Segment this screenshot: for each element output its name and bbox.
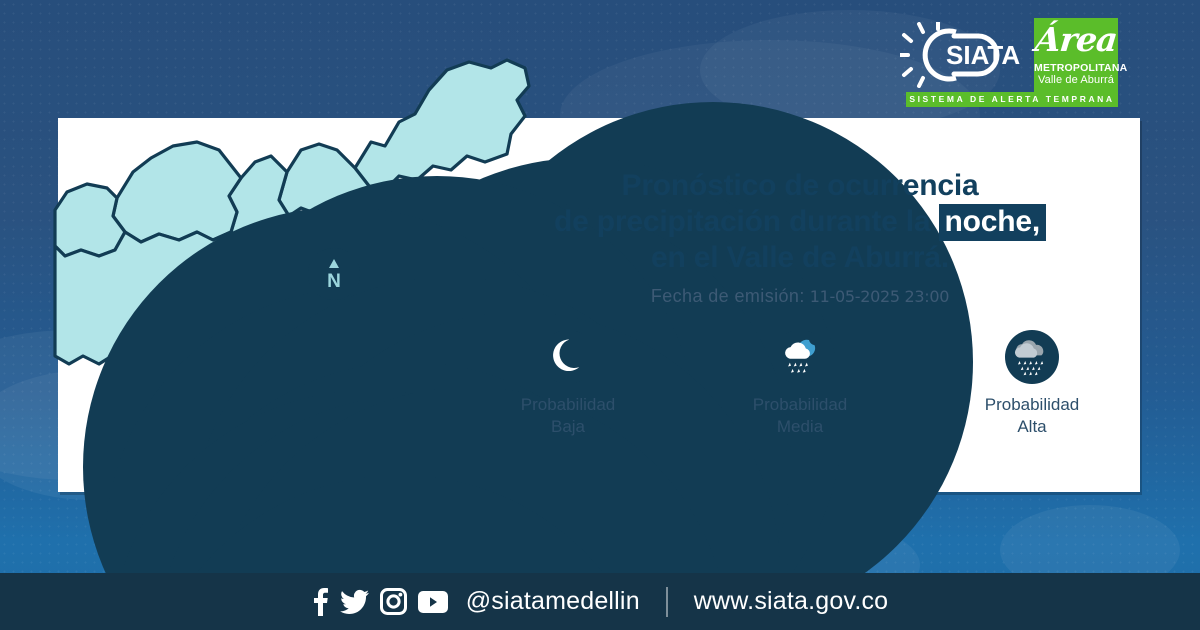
cloud-heavy-rain-icon	[1005, 330, 1059, 384]
valle-de-aburra-map	[55, 50, 575, 570]
legend-alta-line2: Alta	[957, 416, 1107, 438]
compass-north-icon: N	[308, 248, 360, 300]
title-line-1: Pronóstico de ocurrencia	[470, 168, 1130, 204]
instagram-icon[interactable]	[380, 588, 407, 615]
legend-item-media: Probabilidad Media	[725, 330, 875, 438]
map-marker-caldas	[140, 475, 198, 533]
svg-text:N: N	[327, 271, 341, 292]
legend-label-media: Probabilidad Media	[725, 394, 875, 438]
siata-logo: SIATA	[900, 22, 1030, 88]
map-marker-caldas-north	[210, 387, 262, 439]
legend-alta-line1: Probabilidad	[957, 394, 1107, 416]
probability-legend: Probabilidad Baja	[470, 330, 1130, 438]
area-script-text: Área	[1032, 18, 1121, 62]
footer-divider	[666, 587, 668, 617]
legend-baja-line2: Baja	[493, 416, 643, 438]
facebook-icon[interactable]	[312, 588, 329, 616]
area-metropolitana-logo: Área METROPOLITANA Valle de Aburrá	[1034, 18, 1118, 94]
legend-label-alta: Probabilidad Alta	[957, 394, 1107, 438]
footer-bar: @siatamedellin www.siata.gov.co	[0, 573, 1200, 630]
title-line-3: en el Valle de Aburrá.	[470, 240, 1130, 276]
title-line-2-text: de precipitación durante la	[554, 205, 930, 238]
legend-item-alta: Probabilidad Alta	[957, 330, 1107, 438]
moon-cloud-rain-icon	[773, 330, 827, 384]
svg-text:SIATA: SIATA	[946, 40, 1020, 70]
legend-baja-line1: Probabilidad	[493, 394, 643, 416]
map-marker-sabaneta	[155, 395, 211, 451]
website-url[interactable]: www.siata.gov.co	[694, 587, 888, 616]
map-marker-barbosa	[453, 102, 509, 158]
map-marker-envigado	[260, 312, 316, 368]
moon-icon	[541, 330, 595, 384]
twitter-icon[interactable]	[340, 588, 369, 616]
legend-item-baja: Probabilidad Baja	[493, 330, 643, 438]
youtube-icon[interactable]	[418, 591, 448, 613]
social-links	[312, 588, 448, 616]
issue-date: Fecha de emisión: 11-05-2025 23:00	[470, 286, 1130, 307]
social-handle[interactable]: @siatamedellin	[466, 587, 640, 616]
map-marker-medellin-west	[105, 287, 161, 343]
issue-date-label: Fecha de emisión:	[651, 286, 805, 306]
title-highlight-noche: noche,	[939, 204, 1046, 241]
legend-media-line1: Probabilidad	[725, 394, 875, 416]
page-title: Pronóstico de ocurrencia de precipitació…	[470, 168, 1130, 276]
area-line2: Valle de Aburrá	[1034, 74, 1118, 87]
area-line1: METROPOLITANA	[1034, 62, 1118, 74]
legend-media-line2: Media	[725, 416, 875, 438]
title-line-2: de precipitación durante la noche,	[470, 204, 1130, 240]
map-marker-medellin	[190, 277, 248, 335]
map-marker-san-pedro	[83, 207, 137, 261]
legend-label-baja: Probabilidad Baja	[493, 394, 643, 438]
infographic-canvas: SIATA Área METROPOLITANA Valle de Aburrá…	[0, 0, 1200, 630]
issue-date-value: 11-05-2025 23:00	[810, 287, 949, 306]
